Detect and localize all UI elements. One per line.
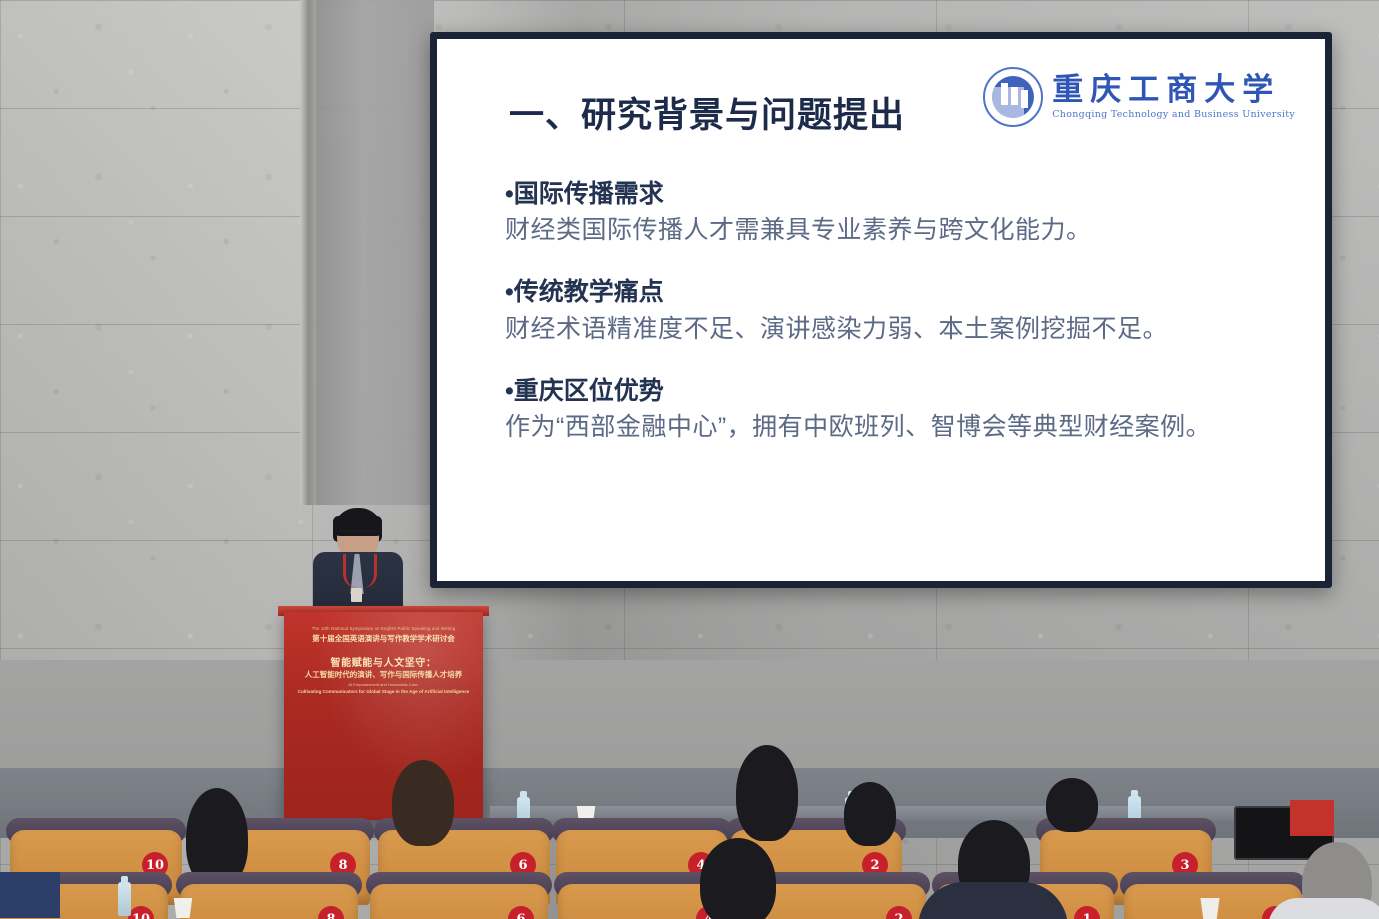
podium-title-cn: 智能赋能与人文坚守：	[284, 654, 483, 669]
seat: 6	[370, 872, 548, 919]
audience-member-head	[844, 782, 896, 846]
water-bottle	[118, 882, 131, 916]
podium-line-cn-small: 第十届全国英语演讲与写作教学学术研讨会	[284, 633, 483, 644]
red-folder	[1290, 800, 1334, 836]
speaker-badge	[351, 588, 362, 602]
podium-subtitle-en: Cultivating Communicators for Global Sta…	[284, 689, 483, 694]
emblem-building-icon	[992, 76, 1034, 118]
university-name-cn: 重庆工商大学	[1052, 74, 1295, 107]
speaker-presenter	[307, 508, 407, 616]
wall-pilaster-edge	[300, 0, 316, 505]
speaker-lanyard	[343, 554, 377, 588]
bullet-body: 作为“西部金融中心”，拥有中欧班列、智博会等典型财经案例。	[505, 411, 1285, 444]
audience-member-shoulders	[1268, 898, 1379, 919]
bullet-heading: •国际传播需求	[505, 179, 1285, 210]
podium-title-en: AI Empowerment and Humanistic Core:	[284, 682, 483, 687]
slide-body: •国际传播需求 财经类国际传播人才需兼具专业素养与跨文化能力。 •传统教学痛点 …	[505, 179, 1285, 474]
wall-pilaster-face	[316, 0, 434, 505]
bullet-body: 财经类国际传播人才需兼具专业素养与跨文化能力。	[505, 214, 1285, 247]
podium-subtitle-cn: 人工智能时代的演讲、写作与国际传播人才培养	[284, 669, 483, 680]
audience-member-shoulders	[918, 882, 1068, 919]
university-logo-text: 重庆工商大学 Chongqing Technology and Business…	[1052, 74, 1295, 120]
bullet-heading: •重庆区位优势	[505, 376, 1285, 407]
conference-photo-scene: 一、研究背景与问题提出 重庆工商大学 Chongqing Technology …	[0, 0, 1379, 919]
wall-lower-band	[0, 660, 1379, 780]
bullet-heading: •传统教学痛点	[505, 277, 1285, 308]
podium-line-en-small: The 10th National Symposium on English P…	[284, 626, 483, 631]
podium-banner: The 10th National Symposium on English P…	[284, 612, 483, 820]
audience-member-head	[700, 838, 776, 919]
slide-bullet-group: •重庆区位优势 作为“西部金融中心”，拥有中欧班列、智博会等典型财经案例。	[505, 376, 1285, 444]
slide-title: 一、研究背景与问题提出	[509, 87, 905, 138]
slide-bullet-group: •传统教学痛点 财经术语精准度不足、演讲感染力弱、本土案例挖掘不足。	[505, 277, 1285, 345]
notebook	[0, 872, 60, 918]
university-logo: 重庆工商大学 Chongqing Technology and Business…	[983, 67, 1295, 127]
seat: 8	[180, 872, 358, 919]
audience-member-head	[392, 760, 454, 846]
audience-member-head	[736, 745, 798, 841]
bullet-body: 财经术语精准度不足、演讲感染力弱、本土案例挖掘不足。	[505, 313, 1285, 346]
speaker-glasses-icon	[339, 530, 377, 541]
university-name-en: Chongqing Technology and Business Univer…	[1052, 109, 1295, 120]
projection-screen: 一、研究背景与问题提出 重庆工商大学 Chongqing Technology …	[437, 39, 1325, 581]
slide-bullet-group: •国际传播需求 财经类国际传播人才需兼具专业素养与跨文化能力。	[505, 179, 1285, 247]
university-emblem-icon	[983, 67, 1043, 127]
audience-member-head	[1046, 778, 1098, 832]
